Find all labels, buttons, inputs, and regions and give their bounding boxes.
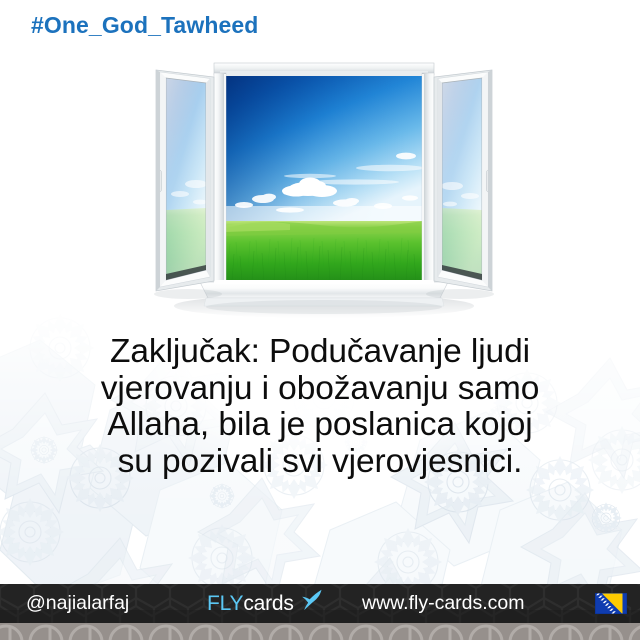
window-sash-left	[156, 70, 214, 291]
quote-line-3: Allaha, bila je poslanica kojoj	[40, 407, 600, 444]
window-svg	[140, 58, 508, 326]
footer-under-strip	[0, 620, 640, 640]
open-window-illustration	[140, 58, 508, 326]
window-sash-right	[434, 70, 492, 291]
quote-line-2: vjerovanju i obožavanju samo	[40, 371, 600, 408]
hashtag-label: #One_God_Tawheed	[31, 12, 258, 39]
quote-text: Zaključak: Podučavanje ljudi vjerovanju …	[40, 334, 600, 480]
footer-handle-label[interactable]: @najialarfaj	[26, 584, 129, 623]
footer-under-pattern	[0, 620, 640, 640]
quote-line-1: Zaključak: Podučavanje ljudi	[40, 334, 600, 371]
footer-url-label[interactable]: www.fly-cards.com	[362, 584, 525, 623]
footer-brand-logo[interactable]: FLYcards	[207, 584, 323, 623]
bosnia-herzegovina-flag-icon	[595, 593, 627, 614]
footer-bar: @najialarfaj FLYcards www.fly-cards.com	[0, 584, 640, 623]
brand-fly-text: FLY	[207, 592, 243, 616]
brand-cards-text: cards	[243, 592, 293, 616]
quote-line-4: su pozivali svi vjerovjesnici.	[40, 444, 600, 481]
quote-card: #One_God_Tawheed	[0, 0, 640, 640]
window-view	[224, 74, 424, 282]
window-sill	[200, 282, 448, 298]
bird-icon	[295, 589, 323, 611]
